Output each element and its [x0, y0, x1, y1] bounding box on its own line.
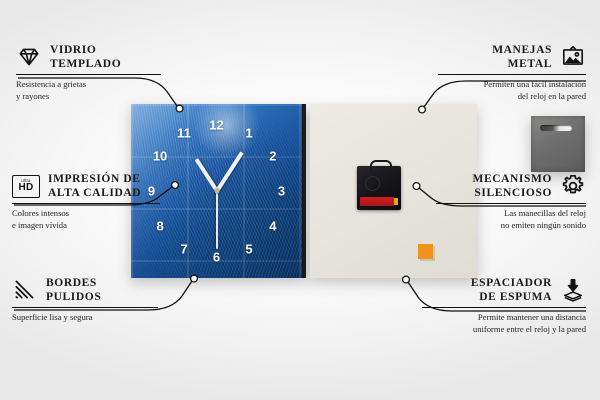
- clock-numeral-3: 3: [278, 185, 285, 198]
- callout-title-line2: TEMPLADO: [50, 57, 121, 71]
- callout-impresion-alta-calidad: ultra HD IMPRESIÓN DE ALTA CALIDAD Color…: [12, 172, 164, 231]
- callout-mecanismo-silencioso: MECANISMO SILENCIOSO Las manecillas del …: [432, 172, 586, 231]
- callout-subtitle-line1: Superficie lisa y segura: [12, 312, 162, 324]
- clock-center-hub: [214, 189, 219, 194]
- mechanism-hanging-loop: [370, 160, 392, 171]
- callout-title-line1: VIDRIO: [50, 43, 121, 57]
- callout-rule: [12, 203, 160, 204]
- callout-title-line2: METAL: [492, 57, 552, 71]
- mechanism-battery: [360, 197, 394, 206]
- callout-title-line1: BORDES: [46, 276, 101, 290]
- callout-rule: [422, 307, 586, 308]
- callout-title-line1: MECANISMO: [472, 172, 552, 186]
- foam-spacer-icon: [560, 277, 586, 303]
- clock-numeral-2: 2: [269, 150, 276, 163]
- product-photo: 12 1 2 3 4 5 6 7 8 9 10 11: [131, 104, 477, 278]
- callout-rule: [438, 74, 586, 75]
- callout-subtitle-line1: Permite mantener una distancia: [418, 312, 586, 324]
- clock-numeral-12: 12: [209, 118, 223, 131]
- diamond-icon: [16, 44, 42, 70]
- ultra-hd-icon: ultra HD: [12, 175, 40, 198]
- callout-title-line1: IMPRESIÓN DE: [48, 172, 141, 186]
- metal-hanger-plate: [531, 116, 585, 172]
- callout-subtitle-line1: Permiten una fácil instalación: [434, 79, 586, 91]
- callout-subtitle-line2: del reloj en la pared: [434, 91, 586, 103]
- callout-title-line2: SILENCIOSO: [472, 186, 552, 200]
- callout-manejas-metal: MANEJAS METAL Permiten una fácil instala…: [434, 43, 586, 102]
- clock-numeral-1: 1: [245, 126, 252, 139]
- hanger-slot: [540, 125, 572, 131]
- clock-numeral-6: 6: [213, 251, 220, 264]
- callout-vidrio-templado: VIDRIO TEMPLADO Resistencia a grietas y …: [16, 43, 166, 102]
- callout-subtitle-line2: y rayones: [16, 91, 166, 103]
- callout-subtitle-line1: Resistencia a grietas: [16, 79, 166, 91]
- callout-subtitle-line2: no emiten ningún sonido: [432, 220, 586, 232]
- callout-rule: [16, 74, 161, 75]
- ultra-hd-icon-main-label: HD: [18, 183, 33, 193]
- clock-numeral-5: 5: [245, 243, 252, 256]
- clock-numeral-7: 7: [180, 243, 187, 256]
- callout-subtitle-line1: Las manecillas del reloj: [432, 208, 586, 220]
- gear-icon: [560, 173, 586, 199]
- callout-title-line2: ALTA CALIDAD: [48, 186, 141, 200]
- callout-bordes-pulidos: BORDES PULIDOS Superficie lisa y segura: [12, 276, 162, 324]
- callout-rule: [12, 307, 158, 308]
- callout-espaciador-espuma: ESPACIADOR DE ESPUMA Permite mantener un…: [418, 276, 586, 335]
- infographic-canvas: 12 1 2 3 4 5 6 7 8 9 10 11: [0, 0, 600, 400]
- callout-subtitle-line1: Colores intensos: [12, 208, 164, 220]
- foam-spacer: [418, 244, 433, 259]
- callout-rule: [436, 203, 586, 204]
- clock-second-hand: [216, 191, 218, 249]
- clock-numeral-11: 11: [177, 126, 191, 139]
- callout-subtitle-line2: e imagen vívida: [12, 220, 164, 232]
- mechanism-dial: [365, 176, 380, 191]
- polished-edge-icon: [12, 277, 38, 303]
- clock-mechanism-box: [357, 166, 401, 210]
- picture-hanger-icon: [560, 44, 586, 70]
- callout-title-line1: ESPACIADOR: [471, 276, 552, 290]
- callout-title-line1: MANEJAS: [492, 43, 552, 57]
- callout-title-line2: PULIDOS: [46, 290, 101, 304]
- clock-numeral-10: 10: [153, 150, 167, 163]
- callout-subtitle-line2: uniforme entre el reloj y la pared: [418, 324, 586, 336]
- clock-numeral-4: 4: [269, 219, 276, 232]
- callout-title-line2: DE ESPUMA: [471, 290, 552, 304]
